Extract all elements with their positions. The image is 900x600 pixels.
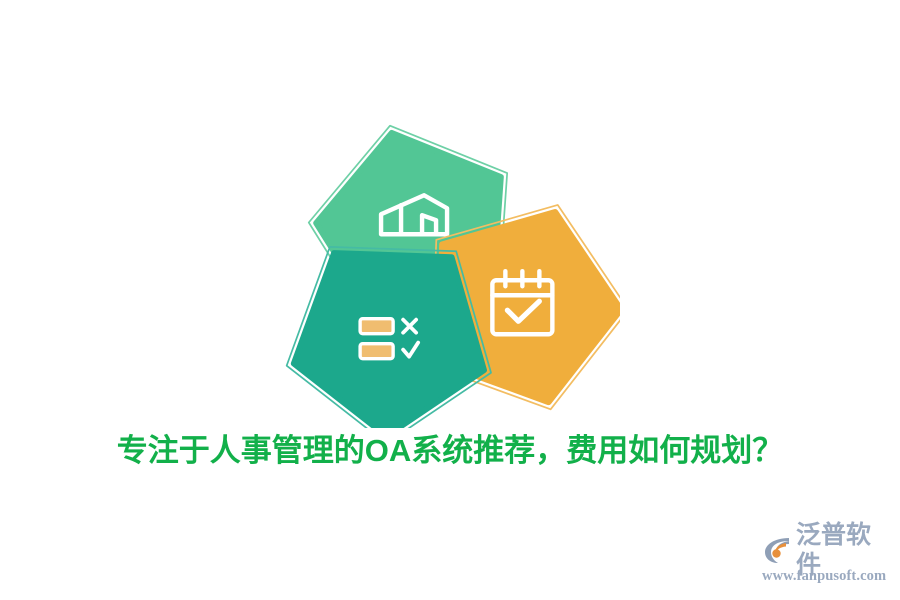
page-title: 专注于人事管理的OA系统推荐，费用如何规划？ [0,432,900,471]
brand-url: www.fanpusoft.com [762,568,894,585]
brand-watermark: 泛普软件 www.fanpusoft.com [762,533,894,589]
checklist-bar-1 [360,319,393,334]
checklist-bar-2 [360,344,393,359]
brand-row: 泛普软件 [762,533,894,567]
hero-graphic [280,108,620,428]
page-root: 专注于人事管理的OA系统推荐，费用如何规划？ 泛普软件 www.fanpusof… [0,0,900,600]
fanpu-logo-icon [762,535,792,565]
